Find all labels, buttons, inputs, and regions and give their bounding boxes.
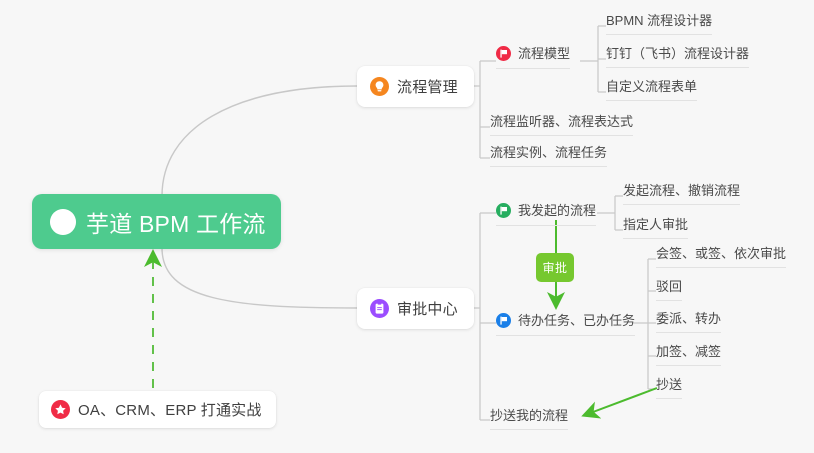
flag-icon	[496, 203, 511, 218]
leaf-custom-process-form[interactable]: 自定义流程表单	[606, 80, 697, 101]
flag-icon	[496, 46, 511, 61]
leaf-listener-expression[interactable]: 流程监听器、流程表达式	[490, 115, 633, 136]
clipboard-icon	[370, 299, 389, 318]
leaf-cc-to-me[interactable]: 抄送我的流程	[490, 409, 568, 430]
star-icon	[51, 400, 70, 419]
sub-node-label: 流程模型	[518, 47, 570, 60]
sub-node-process-model[interactable]: 流程模型	[496, 46, 570, 69]
approval-annotation-chip: 审批	[536, 253, 574, 282]
branch-node-approval-center[interactable]: 审批中心	[357, 288, 474, 329]
callout-node-oa-crm-erp[interactable]: OA、CRM、ERP 打通实战	[39, 391, 276, 428]
sub-node-todo-done-tasks[interactable]: 待办任务、已办任务	[496, 313, 635, 336]
sub-node-label: 我发起的流程	[518, 204, 596, 217]
leaf-add-remove-sign[interactable]: 加签、减签	[656, 345, 721, 366]
leaf-dingtalk-feishu-designer[interactable]: 钉钉（飞书）流程设计器	[606, 47, 749, 68]
sub-node-my-initiated[interactable]: 我发起的流程	[496, 203, 596, 226]
callout-label: OA、CRM、ERP 打通实战	[78, 399, 262, 420]
branch-label: 审批中心	[397, 298, 458, 319]
leaf-bpmn-designer[interactable]: BPMN 流程设计器	[606, 14, 712, 35]
wire-cc-to-ccme	[585, 388, 657, 415]
thumbs-up-icon	[50, 209, 76, 235]
wire-root-to-process-management	[162, 86, 357, 196]
sub-node-label: 待办任务、已办任务	[518, 314, 635, 327]
root-node[interactable]: 芋道 BPM 工作流	[32, 194, 281, 249]
leaf-delegate-transfer[interactable]: 委派、转办	[656, 312, 721, 333]
leaf-assignee-approval[interactable]: 指定人审批	[623, 218, 688, 239]
leaf-countersign[interactable]: 会签、或签、依次审批	[656, 247, 786, 268]
leaf-reject[interactable]: 驳回	[656, 280, 682, 301]
leaf-instance-task[interactable]: 流程实例、流程任务	[490, 146, 607, 167]
branch-node-process-management[interactable]: 流程管理	[357, 66, 474, 107]
branch-label: 流程管理	[397, 76, 458, 97]
leaf-cc[interactable]: 抄送	[656, 378, 682, 399]
flag-icon	[496, 313, 511, 328]
wire-root-to-approval-center	[162, 248, 357, 308]
leaf-start-cancel[interactable]: 发起流程、撤销流程	[623, 184, 740, 205]
mindmap-canvas: 芋道 BPM 工作流 流程管理 流程模型 BPMN 流程设计器 钉钉（飞书）流程…	[0, 0, 814, 453]
lightbulb-icon	[370, 77, 389, 96]
root-label: 芋道 BPM 工作流	[86, 205, 266, 239]
